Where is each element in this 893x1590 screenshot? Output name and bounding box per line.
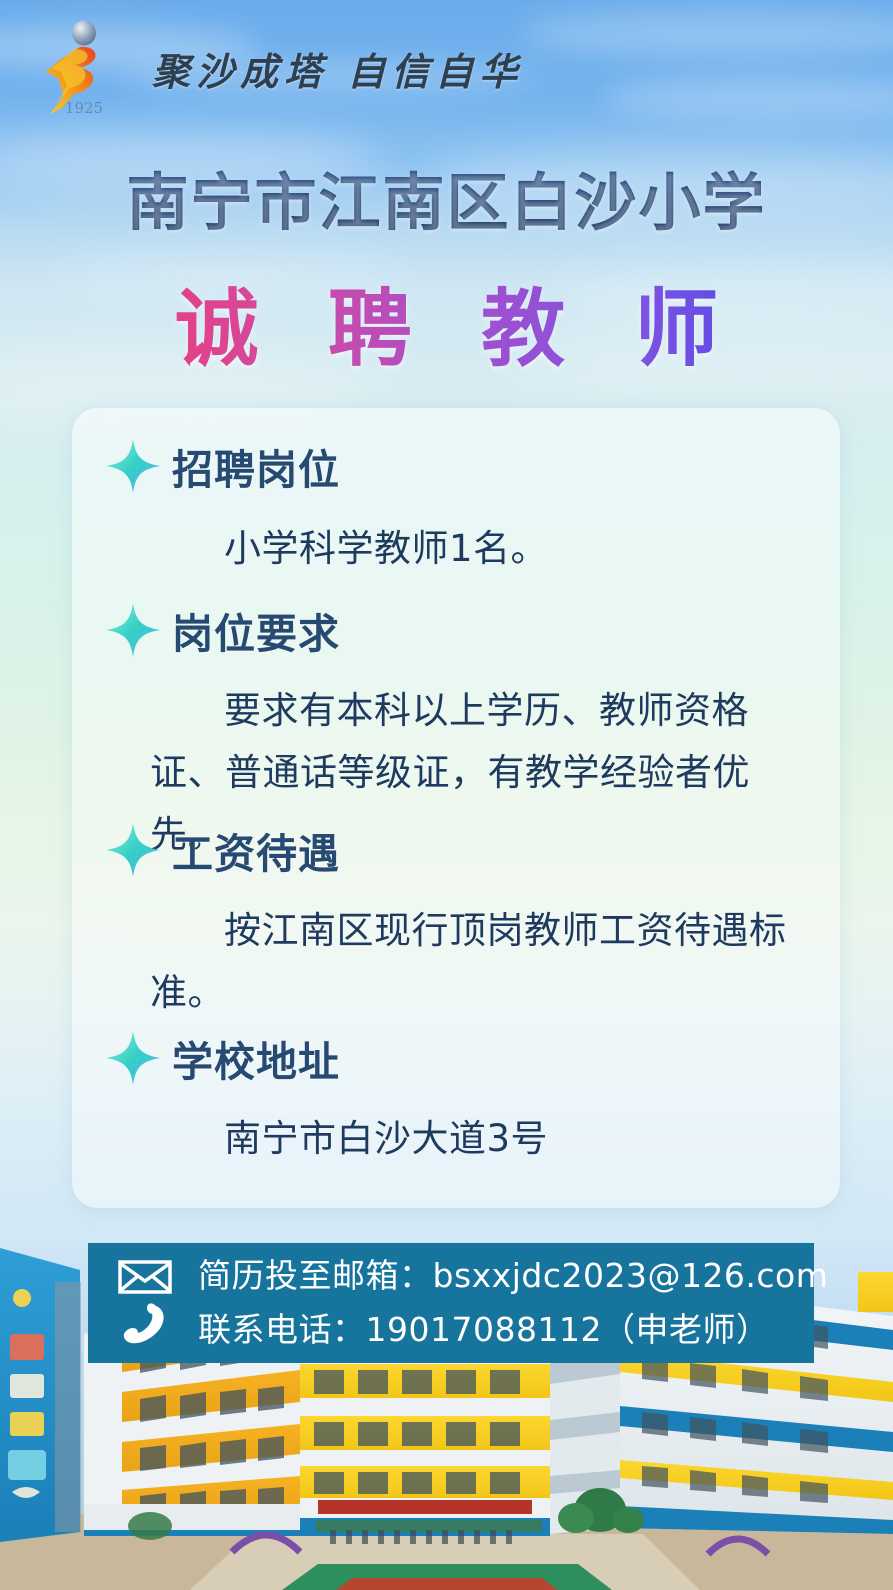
section-title: 岗位要求 (172, 600, 340, 660)
logo-year: 1925 (65, 99, 103, 117)
section-body: 南宁市白沙大道3号 (72, 1108, 840, 1170)
email-line[interactable]: 简历投至邮箱：bsxxjdc2023@126.com (198, 1249, 828, 1303)
recruitment-poster: 1925 聚沙成塔 自信自华 南宁市江南区白沙小学 诚 聘 教 师 (0, 0, 893, 1590)
section-title: 招聘岗位 (172, 436, 340, 496)
school-motto: 聚沙成塔 自信自华 (152, 41, 523, 96)
content-card: 招聘岗位 小学科学教师1名。 (72, 408, 840, 1208)
section-header: 岗位要求 (72, 600, 840, 660)
section-school-address: 学校地址 南宁市白沙大道3号 (72, 1028, 840, 1170)
recruitment-headline: 诚 聘 教 师 (0, 262, 893, 383)
section-title: 工资待遇 (172, 820, 340, 880)
section-recruitment-position: 招聘岗位 小学科学教师1名。 (72, 436, 840, 580)
envelope-icon (118, 1259, 180, 1295)
phone-icon (118, 1303, 180, 1347)
section-body: 小学科学教师1名。 (72, 518, 840, 580)
section-title: 学校地址 (172, 1028, 340, 1088)
contact-icon-group (118, 1259, 180, 1347)
contact-text-group: 简历投至邮箱：bsxxjdc2023@126.com 联系电话：19017088… (198, 1249, 828, 1357)
section-header: 学校地址 (72, 1028, 840, 1088)
sparkle-icon (104, 1029, 162, 1087)
phone-line[interactable]: 联系电话：19017088112（申老师） (198, 1303, 828, 1357)
sparkle-icon (104, 601, 162, 659)
contact-bar: 简历投至邮箱：bsxxjdc2023@126.com 联系电话：19017088… (88, 1243, 814, 1363)
section-body: 按江南区现行顶岗教师工资待遇标准。 (72, 900, 840, 1024)
section-header: 工资待遇 (72, 820, 840, 880)
section-header: 招聘岗位 (72, 436, 840, 496)
school-emblem-runner-logo: 1925 (34, 16, 130, 120)
school-name-title: 南宁市江南区白沙小学 (0, 152, 893, 242)
sparkle-icon (104, 437, 162, 495)
poster-header: 1925 聚沙成塔 自信自华 (0, 0, 893, 136)
section-salary-benefits: 工资待遇 按江南区现行顶岗教师工资待遇标准。 (72, 820, 840, 1024)
sparkle-icon (104, 821, 162, 879)
